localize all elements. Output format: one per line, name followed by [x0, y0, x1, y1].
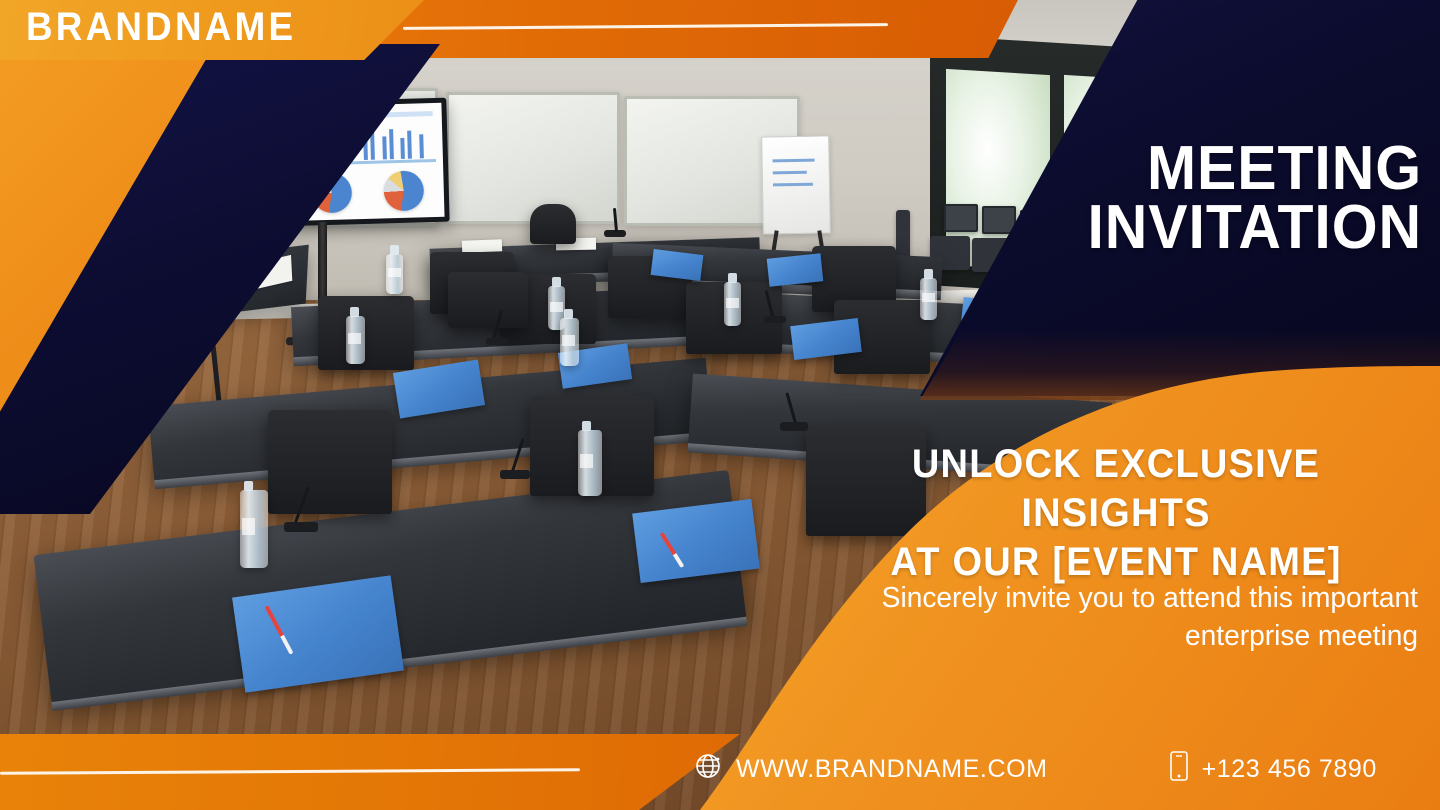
body-line-1: Sincerely invite you to attend this impo… [817, 580, 1418, 618]
microphone-base [284, 522, 318, 532]
body-line-2: enterprise meeting [817, 618, 1418, 656]
water-bottle [240, 490, 268, 568]
microphone-base [486, 338, 508, 345]
water-bottle [386, 254, 403, 294]
microphone-base [500, 470, 530, 479]
blue-folder [632, 499, 760, 583]
globe-icon [694, 751, 724, 788]
brand-banner: BRANDNAME [0, 0, 430, 60]
chair [268, 410, 392, 514]
page-title: MEETING INVITATION [992, 140, 1422, 258]
desktop-monitor [944, 204, 978, 232]
phone-contact[interactable]: +123 456 7890 [1168, 750, 1377, 789]
body-text: Sincerely invite you to attend this impo… [817, 580, 1418, 655]
name-plate [462, 239, 502, 252]
blue-folder [767, 253, 824, 286]
chair [448, 272, 528, 328]
water-bottle [920, 278, 937, 320]
water-bottle [724, 282, 741, 326]
water-bottle [560, 318, 579, 366]
headline-line-1: UNLOCK EXCLUSIVE INSIGHTS [831, 440, 1401, 538]
title-line-1: MEETING [1014, 140, 1423, 199]
title-line-2: INVITATION [1014, 199, 1423, 258]
website-text: WWW.BRANDNAME.COM [736, 755, 1048, 784]
water-bottle [578, 430, 602, 496]
chair [530, 204, 576, 244]
microphone-base [764, 316, 786, 323]
flip-chart [761, 135, 831, 234]
chair [318, 296, 414, 370]
meeting-invitation-poster: BRANDNAME MEETING INVITATION UNLOCK EXCL… [0, 0, 1440, 810]
microphone-base [780, 422, 808, 431]
footer-contacts: WWW.BRANDNAME.COM +123 456 7890 [694, 746, 1394, 792]
whiteboard-center [446, 92, 620, 224]
phone-text: +123 456 7890 [1202, 755, 1377, 784]
smartphone-icon [1168, 750, 1190, 789]
brand-name: BRANDNAME [26, 5, 296, 50]
headline: UNLOCK EXCLUSIVE INSIGHTS AT OUR [EVENT … [831, 440, 1401, 586]
water-bottle [346, 316, 365, 364]
website-contact[interactable]: WWW.BRANDNAME.COM [694, 751, 1048, 788]
